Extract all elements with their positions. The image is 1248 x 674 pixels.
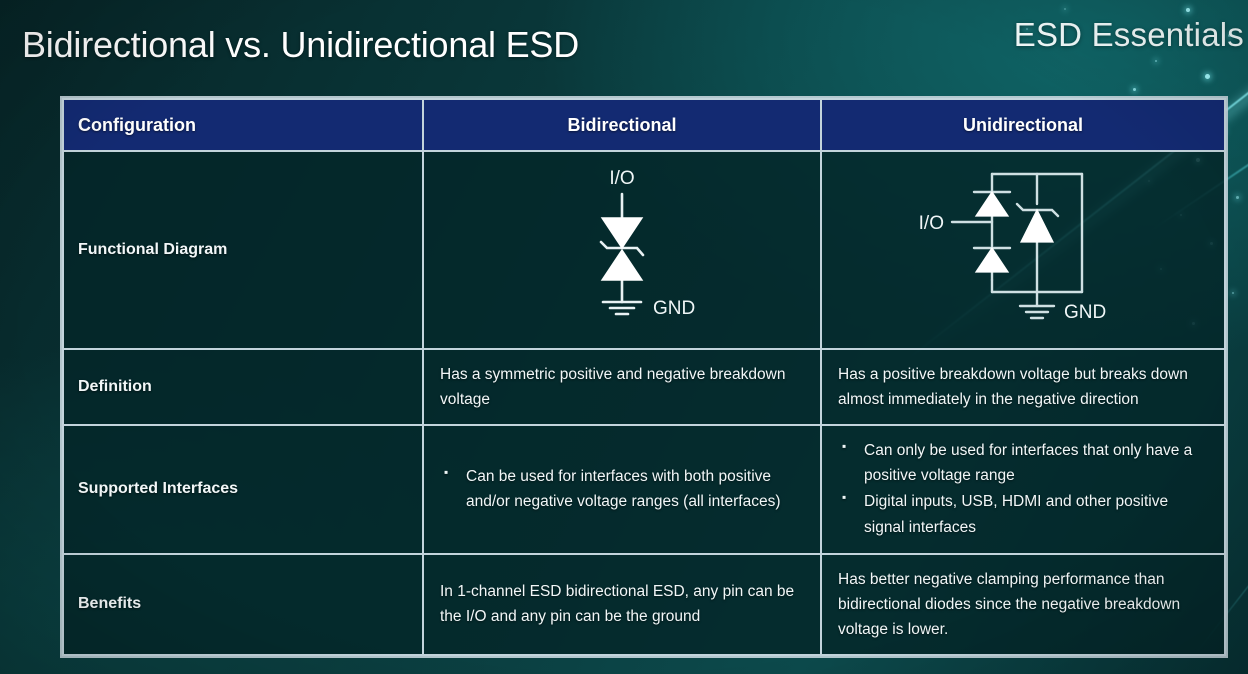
background-vignette [0,0,1248,674]
